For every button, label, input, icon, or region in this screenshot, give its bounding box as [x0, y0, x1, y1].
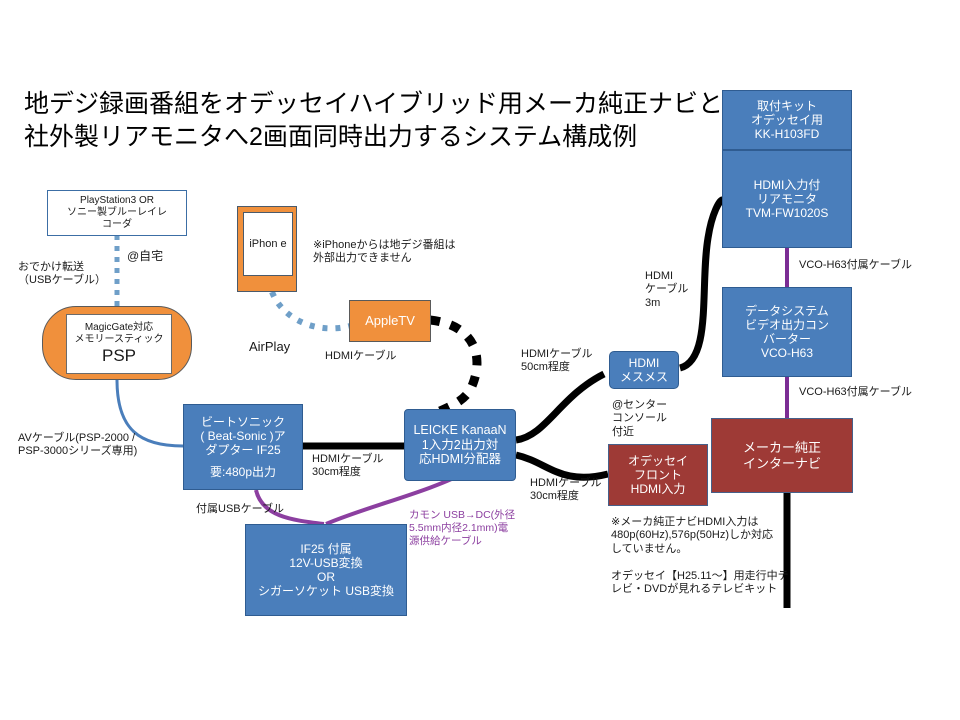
- label-usb-bundled-cable: 付属USBケーブル: [196, 503, 284, 516]
- node-rear-monitor-line-1: HDMI入力付: [754, 178, 821, 192]
- node-psp[interactable]: MagicGate対応 メモリースティック PSP: [66, 314, 172, 374]
- node-converter-line-3: バーター: [763, 332, 811, 346]
- node-splitter-line-2: 1入力2出力対: [422, 438, 498, 453]
- node-iphone[interactable]: iPhon e: [243, 212, 293, 276]
- node-splitter-line-1: LEICKE KanaaN: [413, 423, 506, 438]
- node-if25-power-line-3: OR: [317, 570, 335, 584]
- node-beatsonic-line-1: ビートソニック: [201, 415, 285, 429]
- node-internavi-line-2: インターナビ: [743, 456, 821, 471]
- page-title: 地デジ録画番組をオデッセイハイブリッド用メーカ純正ナビと 社外製リアモニタへ2画…: [24, 88, 724, 154]
- node-rear-monitor[interactable]: HDMI入力付 リアモニタ TVM-FW1020S: [722, 150, 852, 248]
- label-vco-cable-top: VCO-H63付属ケーブル: [799, 259, 912, 272]
- node-converter-line-2: ビデオ出力コン: [745, 318, 829, 332]
- label-av-cable-psp: AVケーブル(PSP-2000 / PSP-3000シリーズ専用): [18, 432, 137, 459]
- label-iphone-note: ※iPhoneからは地デジ番組は 外部出力できません: [313, 239, 455, 266]
- label-odekake-transfer: おでかけ転送 （USBケーブル）: [18, 261, 106, 288]
- node-beatsonic-if25[interactable]: ビートソニック ( Beat-Sonic )ア ダプター IF25 要:480p…: [183, 404, 303, 490]
- wire-splitter-to-front: [516, 455, 608, 477]
- node-internavi-line-1: メーカー純正: [743, 440, 821, 455]
- label-hdmi-3m: HDMI ケーブル 3m: [645, 270, 688, 310]
- label-hdmi-cable-appletv: HDMIケーブル: [325, 350, 396, 363]
- node-hdmi-coupler-line-1: HDMI: [629, 356, 660, 370]
- node-appletv[interactable]: AppleTV: [349, 300, 431, 342]
- node-converter-line-4: VCO-H63: [761, 346, 813, 360]
- node-beatsonic-line-5: 要:480p出力: [210, 465, 276, 479]
- node-odyssey-front-line-1: オデッセイ: [628, 454, 688, 468]
- node-rear-monitor-line-2: リアモニタ: [757, 192, 817, 206]
- node-video-output-converter[interactable]: データシステム ビデオ出力コン バーター VCO-H63: [722, 287, 852, 377]
- node-playstation3-line-2: ソニー製ブルーレイレ: [67, 207, 167, 219]
- node-mount-kit[interactable]: 取付キット オデッセイ用 KK-H103FD: [722, 90, 852, 150]
- node-beatsonic-line-2: ( Beat-Sonic )ア: [200, 429, 285, 443]
- node-if25-power-adapter[interactable]: IF25 付属 12V-USB変換 OR シガーソケット USB変換: [245, 524, 407, 616]
- node-odyssey-front-line-2: フロント: [634, 468, 682, 482]
- node-iphone-line-1: iPhon: [249, 238, 277, 250]
- node-if25-power-line-4: シガーソケット USB変換: [258, 584, 394, 598]
- node-mount-kit-line-1: 取付キット: [757, 99, 817, 113]
- label-center-console: @センター コンソール 付近: [612, 399, 667, 439]
- node-splitter-line-3: 応HDMI分配器: [419, 452, 501, 467]
- node-beatsonic-line-3: ダプター IF25: [205, 443, 280, 457]
- node-rear-monitor-line-3: TVM-FW1020S: [746, 206, 829, 220]
- label-navi-hdmi-note: ※メーカ純正ナビHDMI入力は 480p(60Hz),576p(50Hz)しか対…: [611, 516, 773, 556]
- node-psp-line-2: メモリースティック: [75, 334, 164, 346]
- node-if25-power-line-1: IF25 付属: [300, 542, 351, 556]
- label-tv-kit-note: オデッセイ【H25.11～】用走行中テ レビ・DVDが見れるテレビキット: [611, 570, 789, 597]
- node-odyssey-front-hdmi-input[interactable]: オデッセイ フロント HDMI入力: [608, 444, 708, 506]
- node-appletv-label: AppleTV: [365, 313, 415, 328]
- diagram-canvas: 地デジ録画番組をオデッセイハイブリッド用メーカ純正ナビと 社外製リアモニタへ2画…: [0, 0, 960, 720]
- node-hdmi-splitter[interactable]: LEICKE KanaaN 1入力2出力対 応HDMI分配器: [404, 409, 516, 481]
- node-playstation3-line-3: コーダ: [102, 219, 132, 231]
- node-converter-line-1: データシステム: [745, 304, 829, 318]
- label-at-home: @自宅: [127, 249, 163, 264]
- label-hdmi-30cm-right: HDMIケーブル 30cm程度: [530, 477, 601, 504]
- label-vco-cable-bottom: VCO-H63付属ケーブル: [799, 386, 912, 399]
- node-hdmi-coupler[interactable]: HDMI メスメス: [609, 351, 679, 389]
- label-hdmi-30cm-left: HDMIケーブル 30cm程度: [312, 453, 383, 480]
- node-hdmi-coupler-line-2: メスメス: [620, 370, 668, 384]
- label-kamon-power-cable: カモン USB→DC(外径 5.5mm内径2.1mm)電 源供給ケーブル: [409, 509, 515, 547]
- node-mount-kit-line-2: オデッセイ用: [751, 113, 823, 127]
- node-odyssey-front-line-3: HDMI入力: [631, 482, 686, 496]
- wire-iphone-to-appletv: [272, 292, 350, 328]
- node-psp-line-1: MagicGate対応: [85, 322, 153, 334]
- node-internavi[interactable]: メーカー純正 インターナビ: [711, 418, 853, 493]
- label-airplay: AirPlay: [249, 339, 290, 355]
- node-playstation3-line-1: PlayStation3 OR: [80, 195, 154, 207]
- node-psp-line-3: PSP: [102, 346, 136, 366]
- wire-splitter-to-coupler: [516, 374, 604, 440]
- node-iphone-line-2: e: [281, 238, 287, 250]
- node-mount-kit-line-3: KK-H103FD: [755, 127, 820, 141]
- label-hdmi-50cm: HDMIケーブル 50cm程度: [521, 348, 592, 375]
- node-if25-power-line-2: 12V-USB変換: [289, 556, 362, 570]
- node-playstation3[interactable]: PlayStation3 OR ソニー製ブルーレイレ コーダ: [47, 190, 187, 236]
